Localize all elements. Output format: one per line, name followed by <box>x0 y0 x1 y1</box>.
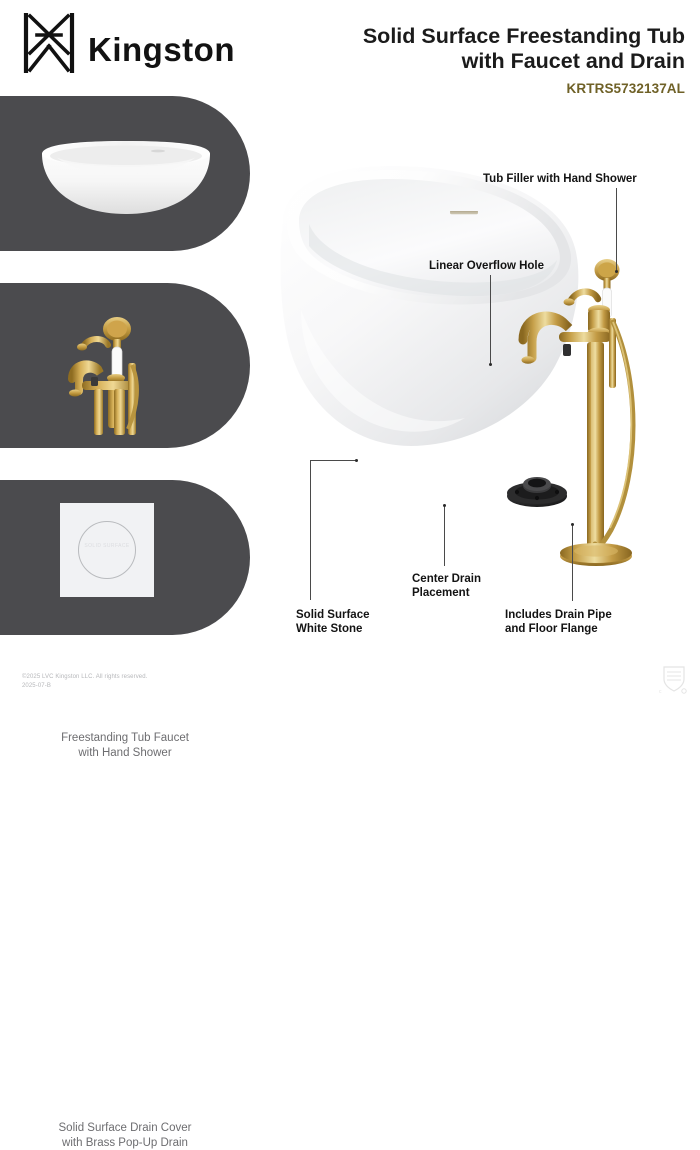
panel-backdrop <box>0 96 250 251</box>
callout-overflow-label: Linear Overflow Hole <box>429 259 544 273</box>
callout-center-drain-label: Center Drain Placement <box>412 572 481 600</box>
main-product-stage <box>265 150 700 580</box>
callout-line-1: Solid Surface <box>296 608 370 622</box>
callout-center-drain-leader <box>444 506 445 566</box>
svg-text:c: c <box>659 689 662 694</box>
callout-line-2: White Stone <box>296 622 370 636</box>
callout-line-2: and Floor Flange <box>505 622 612 636</box>
callout-drain-pipe-point <box>571 523 574 526</box>
main-product-illustration <box>265 150 700 580</box>
panel-caption-line-2: with Hand Shower <box>0 746 250 761</box>
square-drain-cover-icon: SOLID SURFACE <box>60 503 154 597</box>
panel-caption-line-2: with Brass Pop-Up Drain <box>0 1136 250 1150</box>
drain-cover-ring <box>78 521 136 579</box>
model-number: KRTRS5732137AL <box>355 81 685 96</box>
callout-white-stone-leader-vertical <box>310 460 311 600</box>
page-header: Kingston Solid Surface Freestanding Tub … <box>0 0 700 95</box>
panel-caption-line-1: Freestanding Tub Faucet <box>0 731 250 746</box>
callout-line-1: Includes Drain Pipe <box>505 608 612 622</box>
callout-white-stone-leader-horizontal <box>310 460 357 461</box>
panel-backdrop: SOLID SURFACE <box>0 480 250 635</box>
callout-line-1: Linear Overflow Hole <box>429 259 544 273</box>
callout-tub-filler-leader <box>616 188 617 272</box>
callout-drain-pipe-label: Includes Drain Pipe and Floor Flange <box>505 608 612 636</box>
panel-backdrop <box>0 283 250 448</box>
callout-white-stone-point <box>355 459 358 462</box>
footer-copyright: ©2025 LVC Kingston LLC. All rights reser… <box>22 673 147 691</box>
drain-cover-text: SOLID SURFACE <box>60 543 154 549</box>
tub-faucet-hand-shower-icon <box>42 303 202 435</box>
panel-caption: Freestanding Tub Faucet with Hand Shower <box>0 731 250 760</box>
callout-center-drain-point <box>443 504 446 507</box>
brand-wordmark: Kingston <box>88 31 235 69</box>
callout-line-1: Center Drain <box>412 572 481 586</box>
callout-tub-filler-point <box>615 270 618 273</box>
panel-caption-line-1: Solid Surface Drain Cover <box>0 1121 250 1136</box>
product-title-line-1: Solid Surface Freestanding Tub <box>355 24 685 49</box>
callout-line-2: Placement <box>412 586 481 600</box>
freestanding-tub-icon <box>36 138 216 218</box>
callout-drain-pipe-leader <box>572 525 573 601</box>
callout-white-stone-label: Solid Surface White Stone <box>296 608 370 636</box>
revision-code: 2025-07-B <box>22 682 147 691</box>
callout-overflow-point <box>489 363 492 366</box>
kingston-monogram-icon <box>22 13 76 73</box>
callout-line-1: Tub Filler with Hand Shower <box>483 172 637 186</box>
panel-caption: Solid Surface Drain Cover with Brass Pop… <box>0 1121 250 1150</box>
callout-overflow-leader <box>490 275 491 365</box>
callout-tub-filler-label: Tub Filler with Hand Shower <box>483 172 637 186</box>
copyright-text: ©2025 LVC Kingston LLC. All rights reser… <box>22 673 147 682</box>
certification-shield-icon: c <box>656 664 692 694</box>
product-title-line-2: with Faucet and Drain <box>355 49 685 74</box>
page-title: Solid Surface Freestanding Tub with Fauc… <box>355 24 685 74</box>
